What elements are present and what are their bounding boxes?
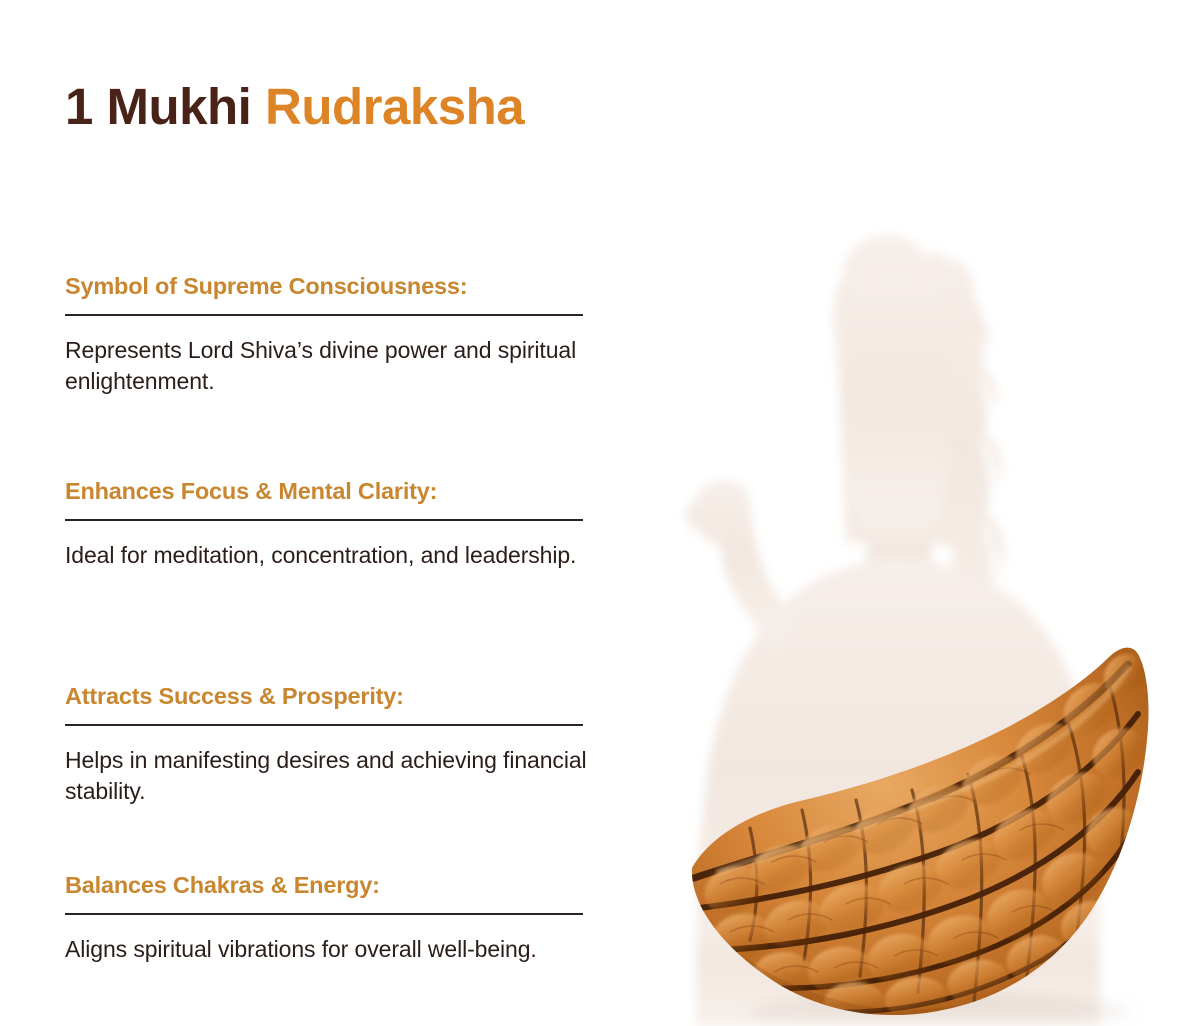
feature-block: Attracts Success & Prosperity: Helps in … xyxy=(65,682,650,806)
one-mukhi-rudraksha-bead-crescent xyxy=(676,640,1200,1026)
feature-body: Represents Lord Shiva’s divine power and… xyxy=(65,335,640,396)
page-title-accent: Rudraksha xyxy=(265,78,524,135)
feature-body: Ideal for meditation, concentration, and… xyxy=(65,540,640,570)
feature-block: Enhances Focus & Mental Clarity: Ideal f… xyxy=(65,477,650,571)
feature-heading: Symbol of Supreme Consciousness: xyxy=(65,272,650,301)
feature-divider xyxy=(65,314,583,316)
content-column: 1 Mukhi Rudraksha Symbol of Supreme Cons… xyxy=(0,0,680,1026)
feature-body: Aligns spiritual vibrations for overall … xyxy=(65,934,640,964)
page-title-primary: 1 Mukhi xyxy=(65,78,265,135)
feature-body: Helps in manifesting desires and achievi… xyxy=(65,745,640,806)
feature-block: Symbol of Supreme Consciousness: Represe… xyxy=(65,272,650,396)
feature-heading: Balances Chakras & Energy: xyxy=(65,871,650,900)
feature-divider xyxy=(65,519,583,521)
feature-divider xyxy=(65,724,583,726)
feature-heading: Attracts Success & Prosperity: xyxy=(65,682,650,711)
feature-divider xyxy=(65,913,583,915)
feature-heading: Enhances Focus & Mental Clarity: xyxy=(65,477,650,506)
product-info-card: 1 Mukhi Rudraksha Symbol of Supreme Cons… xyxy=(0,0,1200,1026)
page-title: 1 Mukhi Rudraksha xyxy=(65,78,524,137)
lord-shiva-meditating-silhouette-watermark xyxy=(600,180,1200,1026)
feature-block: Balances Chakras & Energy: Aligns spirit… xyxy=(65,871,650,965)
